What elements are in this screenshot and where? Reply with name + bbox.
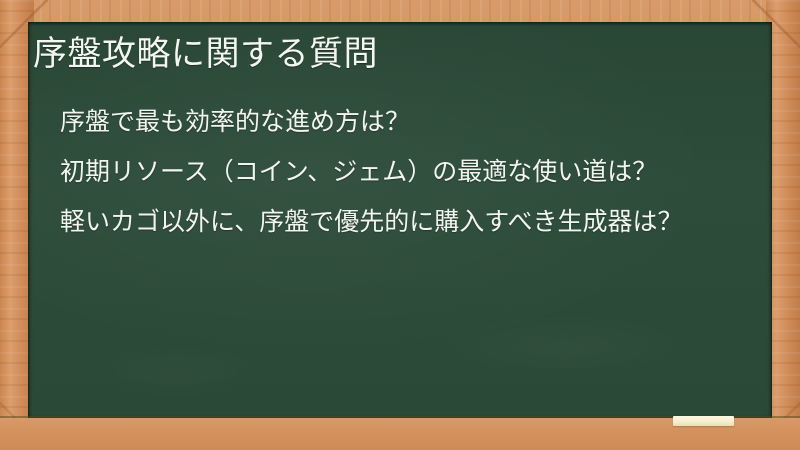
chalk-stick-icon	[673, 416, 734, 426]
slide-title: 序盤攻略に関する質問	[33, 30, 753, 78]
question-list: 序盤で最も効率的な進め方は？ 初期リソース（コイン、ジェム）の最適な使い道は？ …	[60, 102, 760, 242]
question-item-1: 序盤で最も効率的な進め方は？	[60, 102, 760, 142]
question-item-2: 初期リソース（コイン、ジェム）の最適な使い道は？	[60, 152, 760, 192]
slide-content: 序盤攻略に関する質問 序盤で最も効率的な進め方は？ 初期リソース（コイン、ジェム…	[28, 22, 772, 418]
question-item-3: 軽いカゴ以外に、序盤で優先的に購入すべき生成器は？	[60, 202, 760, 242]
chalkboard-slide: 序盤攻略に関する質問 序盤で最も効率的な進め方は？ 初期リソース（コイン、ジェム…	[0, 0, 800, 450]
